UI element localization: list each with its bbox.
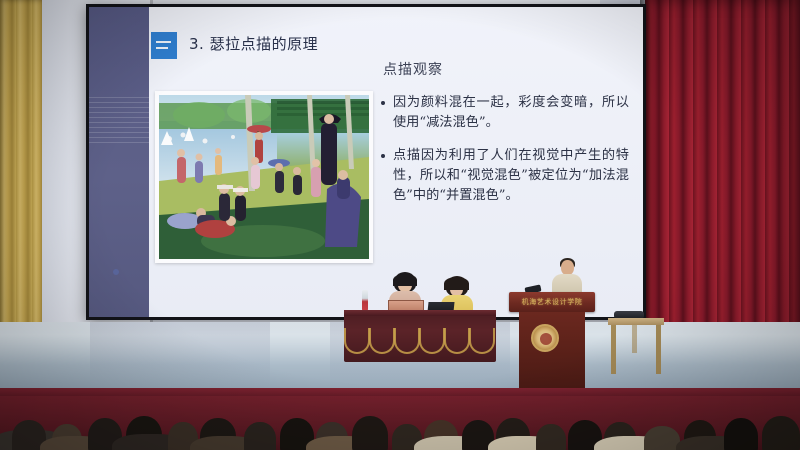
blue-square-bullet-icon — [151, 32, 177, 59]
audience-area — [0, 396, 800, 450]
panel-table — [344, 310, 496, 368]
table-drape-top — [344, 310, 496, 316]
side-table-leg — [632, 325, 637, 353]
audience-member — [762, 416, 800, 450]
water-bottle — [362, 290, 368, 311]
audience-member — [352, 416, 388, 450]
podium: 机海艺术设计学院 — [509, 292, 595, 388]
slide-bullet-1: 因为颜料混在一起，彩度会变暗，所以使用“减法混色”。 — [379, 93, 629, 133]
side-table — [608, 318, 664, 374]
slide-subtitle: 点描观察 — [383, 59, 443, 79]
audience-member — [244, 422, 276, 450]
table-drape-scallop-trim — [344, 328, 496, 354]
podium-sign-text: 机海艺术设计学院 — [515, 297, 589, 307]
side-table-top — [608, 318, 664, 325]
lecture-hall-photo: 3. 瑟拉点描的原理 点描观察 — [0, 0, 800, 450]
floor-reflection-left — [90, 322, 270, 386]
seurat-painting-image — [159, 95, 369, 259]
slide-bullet-2: 点描因为利用了人们在视觉中产生的特性，所以和“视觉混色”被定位为“加法混色”中的… — [379, 146, 629, 206]
slide-band-dot — [113, 269, 119, 275]
slide-title: 3. 瑟拉点描的原理 — [189, 33, 318, 54]
side-table-leg — [656, 325, 661, 374]
side-table-leg — [611, 325, 616, 374]
slide-artwork-frame — [155, 91, 373, 263]
table-drape — [344, 310, 496, 362]
slide-sidebar-band — [89, 7, 149, 317]
school-crest-emblem — [531, 324, 559, 352]
audience-member — [536, 424, 566, 450]
gold-curtain-left — [0, 0, 42, 330]
podium-top: 机海艺术设计学院 — [509, 292, 595, 312]
slide-band-texture-lines — [89, 97, 149, 145]
audience-member — [724, 418, 758, 450]
slide-bullet-list: 因为颜料混在一起，彩度会变暗，所以使用“减法混色”。 点描因为利用了人们在视觉中… — [379, 93, 629, 219]
audience-member-cap — [644, 426, 680, 450]
